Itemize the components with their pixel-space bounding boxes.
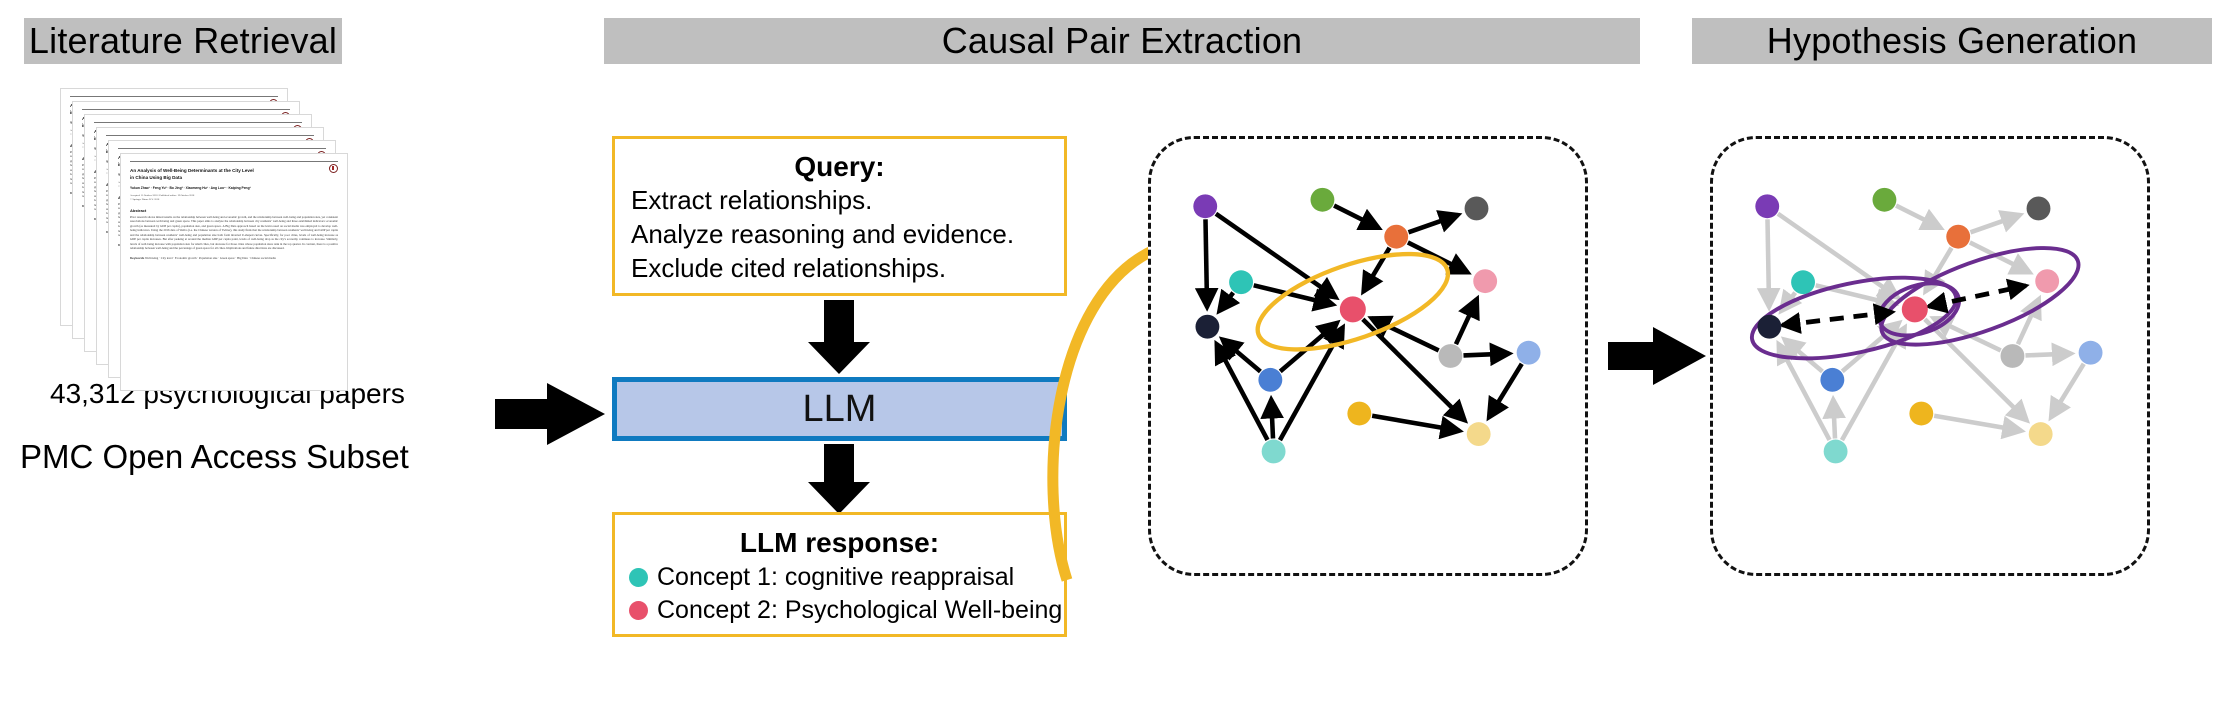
- graph-node-red[interactable]: [1340, 296, 1366, 322]
- graph-edge: [1456, 299, 1477, 344]
- graph-edge: [1334, 206, 1379, 228]
- graph-node-teal[interactable]: [1229, 270, 1253, 294]
- graph-node-teal[interactable]: [1791, 270, 1815, 294]
- graph-node-pink[interactable]: [1473, 269, 1497, 293]
- query-line-2: Analyze reasoning and evidence.: [631, 218, 1064, 251]
- graph-node-periwinkle[interactable]: [2079, 341, 2103, 365]
- graph-node-aqua[interactable]: [1824, 440, 1848, 464]
- response-item-2: Concept 2: Psychological Well-being: [629, 596, 1064, 625]
- graph-svg: [1151, 139, 1585, 573]
- query-box: Query: Extract relationships. Analyze re…: [612, 136, 1067, 296]
- predicted-link: [1782, 312, 1892, 325]
- header-rule: [130, 161, 338, 162]
- data-source-caption: PMC Open Access Subset: [20, 438, 409, 476]
- graph-node-gold[interactable]: [1347, 402, 1371, 426]
- graph-node-orange[interactable]: [1946, 225, 1970, 249]
- arrow-papers-to-query: [495, 383, 610, 445]
- graph-edge: [2018, 299, 2039, 344]
- graph-edge: [1970, 242, 2030, 272]
- llm-response-title: LLM response:: [615, 527, 1064, 559]
- query-title: Query:: [615, 151, 1064, 183]
- llm-label: LLM: [803, 388, 877, 431]
- graph-node-pink[interactable]: [2035, 269, 2059, 293]
- graph-node-aqua[interactable]: [1262, 440, 1286, 464]
- crossmark-icon: [329, 164, 338, 173]
- graph-node-sand[interactable]: [1467, 422, 1491, 446]
- concept-1-label: Concept 1: cognitive reappraisal: [657, 563, 1014, 592]
- header-rule: [118, 148, 326, 149]
- paper-thumbnail-front: An Analysis of Well-Being Determinants a…: [120, 153, 348, 391]
- graph-edge: [1372, 416, 1459, 431]
- paper-stack: An Analysis of Well-Being Determinants a…: [60, 88, 350, 398]
- graph-edge: [1463, 354, 1509, 356]
- query-line-1: Extract relationships.: [631, 184, 1064, 217]
- llm-box: LLM: [612, 377, 1067, 441]
- arrow-llm-to-response: [808, 444, 870, 514]
- stage-header-literature-retrieval: Literature Retrieval: [24, 18, 342, 64]
- stage-label: Literature Retrieval: [29, 20, 337, 62]
- graph-node-orange[interactable]: [1384, 225, 1408, 249]
- graph-node-lightgrey[interactable]: [1439, 344, 1463, 368]
- llm-response-box: LLM response: Concept 1: cognitive reapp…: [612, 512, 1067, 637]
- graph-edge: [1489, 364, 1522, 418]
- graph-node-gold[interactable]: [1909, 402, 1933, 426]
- abstract-text: Prior research shows mixed results on th…: [130, 215, 338, 251]
- graph-edge: [1219, 293, 1233, 312]
- abstract-heading: Abstract: [130, 208, 338, 213]
- graph-edge: [1363, 319, 1465, 420]
- paper-keywords: Keywords Well-being · City level · Econo…: [130, 256, 338, 261]
- graph-node-purple[interactable]: [1755, 194, 1779, 218]
- header-rule: [70, 96, 278, 97]
- concept-2-label: Concept 2: Psychological Well-being: [657, 596, 1062, 625]
- paper-title: An Analysis of Well-Being Determinants a…: [130, 168, 338, 181]
- graph-node-purple[interactable]: [1193, 194, 1217, 218]
- graph-edge: [2051, 364, 2084, 418]
- header-rule: [82, 109, 290, 110]
- predicted-link: [1929, 286, 2026, 307]
- graph-node-red[interactable]: [1902, 296, 1928, 322]
- graph-node-navy[interactable]: [1195, 315, 1219, 339]
- graph-edge: [1371, 318, 1438, 350]
- graph-node-green[interactable]: [1310, 188, 1334, 212]
- graph-database-panel: [1148, 136, 1588, 576]
- graph-node-lightgrey[interactable]: [2001, 344, 2025, 368]
- response-item-1: Concept 1: cognitive reappraisal: [629, 563, 1064, 592]
- stage-label: Causal Pair Extraction: [942, 20, 1303, 62]
- stage-header-causal-pair-extraction: Causal Pair Extraction: [604, 18, 1640, 64]
- graph-node-blue[interactable]: [1820, 368, 1844, 392]
- stage-header-hypothesis-generation: Hypothesis Generation: [1692, 18, 2212, 64]
- graph-edge: [1205, 219, 1207, 307]
- arrow-graph-to-link-prediction: [1608, 327, 1708, 385]
- graph-edge: [1896, 206, 1941, 228]
- link-prediction-panel: [1710, 136, 2150, 576]
- paper-authors: Yukun Zhao¹ · Feng Yu² · Bo Jing³ · Xiao…: [130, 186, 338, 190]
- graph-node-darkgrey[interactable]: [1465, 197, 1489, 221]
- stage-label: Hypothesis Generation: [1767, 20, 2137, 62]
- graph-node-periwinkle[interactable]: [1517, 341, 1541, 365]
- graph-edge: [1934, 416, 2021, 431]
- link-prediction-svg: [1713, 139, 2147, 573]
- graph-node-darkgrey[interactable]: [2027, 197, 2051, 221]
- graph-edge: [1842, 323, 1899, 372]
- graph-node-blue[interactable]: [1258, 368, 1282, 392]
- graph-edge: [1408, 215, 1458, 232]
- graph-node-sand[interactable]: [2029, 422, 2053, 446]
- paper-meta: Accepted: 11 October 2018 / Published on…: [130, 194, 338, 202]
- arrow-query-to-llm: [808, 300, 870, 374]
- header-rule: [106, 135, 314, 136]
- concept-1-color-dot: [629, 568, 648, 587]
- graph-node-navy[interactable]: [1757, 315, 1781, 339]
- graph-edge: [1833, 399, 1835, 438]
- concept-2-color-dot: [629, 601, 648, 620]
- graph-edge: [2025, 354, 2071, 356]
- graph-edge: [1767, 219, 1769, 307]
- query-line-3: Exclude cited relationships.: [631, 252, 1064, 285]
- graph-edge: [1970, 215, 2020, 232]
- graph-node-green[interactable]: [1872, 188, 1896, 212]
- graph-edge: [1271, 399, 1273, 438]
- header-rule: [94, 122, 302, 123]
